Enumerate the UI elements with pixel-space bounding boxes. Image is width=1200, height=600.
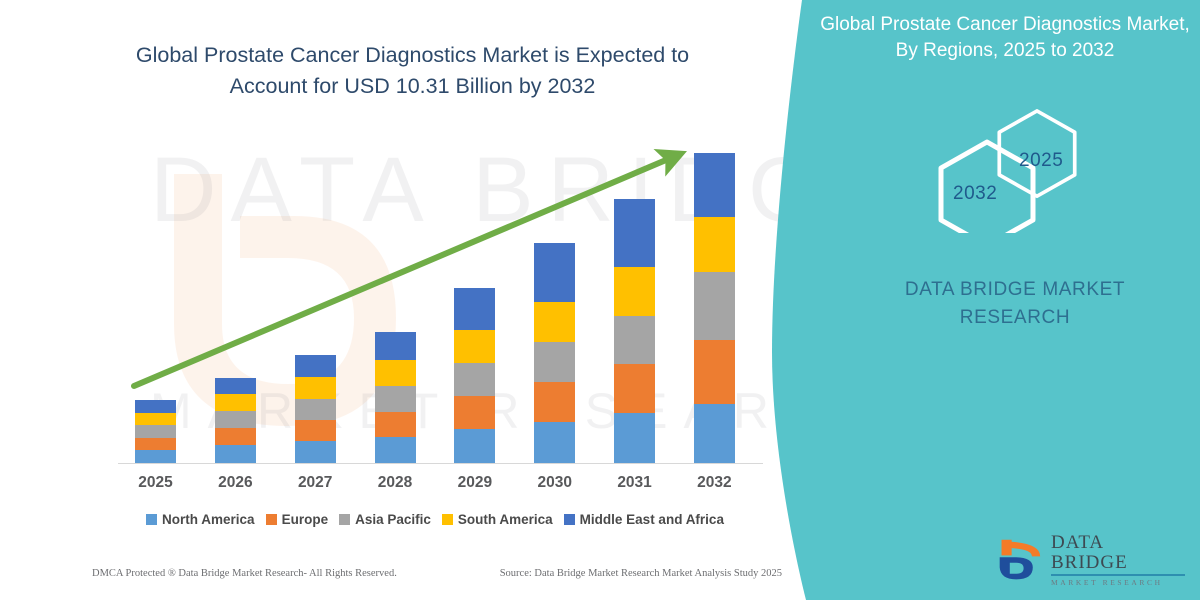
hexagon-shapes-icon <box>915 108 1115 233</box>
hexagon-label-end: 2032 <box>953 183 997 205</box>
legend-swatch-icon <box>339 514 350 525</box>
stacked-bar <box>534 243 575 463</box>
x-axis-labels: 20252026202720282029203020312032 <box>100 474 770 492</box>
bar-segment <box>215 411 256 428</box>
legend-item[interactable]: Europe <box>266 512 329 527</box>
hexagon-group: 2025 2032 <box>915 108 1115 233</box>
bar-segment <box>454 396 495 429</box>
bar-segment <box>375 437 416 463</box>
x-axis-tick: 2025 <box>118 474 193 492</box>
bar-column <box>677 118 752 463</box>
stacked-bar <box>295 355 336 463</box>
legend-label: Middle East and Africa <box>580 512 724 527</box>
bar-chart <box>100 120 770 470</box>
hexagon-label-start: 2025 <box>1019 150 1063 172</box>
legend-item[interactable]: South America <box>442 512 553 527</box>
bar-segment <box>534 243 575 302</box>
data-bridge-logo-icon <box>995 537 1043 583</box>
legend-item[interactable]: North America <box>146 512 255 527</box>
bar-segment <box>375 332 416 360</box>
bar-segment <box>694 217 735 272</box>
bar-segment <box>375 386 416 412</box>
stacked-bar <box>614 199 655 463</box>
page-title: Global Prostate Cancer Diagnostics Marke… <box>100 40 725 101</box>
legend-swatch-icon <box>442 514 453 525</box>
bar-segment <box>375 360 416 386</box>
logo-wordmark: DATA BRIDGE MARKET RESEARCH <box>1051 533 1185 586</box>
bar-segment <box>534 302 575 342</box>
panel-brand-text: DATA BRIDGE MARKET RESEARCH <box>880 276 1150 331</box>
bar-segment <box>534 342 575 382</box>
bar-segment <box>295 441 336 463</box>
bar-segment <box>215 378 256 394</box>
bar-segment <box>614 413 655 463</box>
footer: DMCA Protected ® Data Bridge Market Rese… <box>92 568 782 579</box>
logo-name: DATA BRIDGE <box>1051 533 1185 573</box>
bar-segment <box>135 400 176 413</box>
x-axis-tick: 2027 <box>278 474 353 492</box>
legend-label: South America <box>458 512 553 527</box>
bar-segment <box>295 399 336 420</box>
legend-label: Asia Pacific <box>355 512 431 527</box>
x-axis-tick: 2030 <box>517 474 592 492</box>
x-axis-tick: 2028 <box>358 474 433 492</box>
bar-series-container <box>100 118 770 463</box>
bar-segment <box>215 428 256 445</box>
bar-segment <box>135 438 176 450</box>
legend-label: North America <box>162 512 255 527</box>
legend-item[interactable]: Middle East and Africa <box>564 512 724 527</box>
bar-column <box>597 118 672 463</box>
bar-segment <box>614 316 655 364</box>
bar-segment <box>614 199 655 267</box>
x-axis-tick: 2032 <box>677 474 752 492</box>
bar-segment <box>295 377 336 399</box>
legend-label: Europe <box>282 512 329 527</box>
infographic-canvas: DATA BRIDGE MARKET RESEARCH Global Prost… <box>0 0 1200 600</box>
bar-column <box>118 118 193 463</box>
chart-legend: North AmericaEuropeAsia PacificSouth Ame… <box>100 512 770 527</box>
stacked-bar <box>215 378 256 463</box>
x-axis-tick: 2031 <box>597 474 672 492</box>
chart-baseline <box>118 463 763 464</box>
bar-segment <box>454 330 495 363</box>
footer-copyright: DMCA Protected ® Data Bridge Market Rese… <box>92 568 397 579</box>
stacked-bar <box>375 332 416 463</box>
bar-segment <box>375 412 416 437</box>
legend-swatch-icon <box>266 514 277 525</box>
bar-segment <box>534 422 575 463</box>
bar-column <box>517 118 592 463</box>
legend-item[interactable]: Asia Pacific <box>339 512 431 527</box>
bar-segment <box>215 445 256 463</box>
bar-segment <box>135 425 176 438</box>
x-axis-tick: 2026 <box>198 474 273 492</box>
bar-segment <box>694 340 735 404</box>
bar-column <box>437 118 512 463</box>
bar-segment <box>454 288 495 330</box>
bar-column <box>358 118 433 463</box>
x-axis-tick: 2029 <box>437 474 512 492</box>
footer-source: Source: Data Bridge Market Research Mark… <box>500 568 782 579</box>
plot-area <box>100 120 770 465</box>
legend-swatch-icon <box>564 514 575 525</box>
stacked-bar <box>454 288 495 463</box>
bar-segment <box>534 382 575 422</box>
bar-segment <box>614 364 655 413</box>
panel-title: Global Prostate Cancer Diagnostics Marke… <box>820 12 1190 64</box>
legend-swatch-icon <box>146 514 157 525</box>
stacked-bar <box>135 400 176 463</box>
logo-divider <box>1051 574 1185 576</box>
bar-segment <box>295 355 336 377</box>
bar-segment <box>295 420 336 441</box>
stacked-bar <box>694 153 735 463</box>
bar-segment <box>135 450 176 463</box>
logo-subtitle: MARKET RESEARCH <box>1051 578 1185 587</box>
bar-segment <box>454 429 495 463</box>
bar-column <box>278 118 353 463</box>
bar-segment <box>135 413 176 425</box>
bar-column <box>198 118 273 463</box>
bar-segment <box>694 153 735 217</box>
brand-logo: DATA BRIDGE MARKET RESEARCH <box>995 534 1185 586</box>
bar-segment <box>694 272 735 340</box>
bar-segment <box>454 363 495 396</box>
bar-segment <box>614 267 655 316</box>
bar-segment <box>694 404 735 463</box>
bar-segment <box>215 394 256 411</box>
